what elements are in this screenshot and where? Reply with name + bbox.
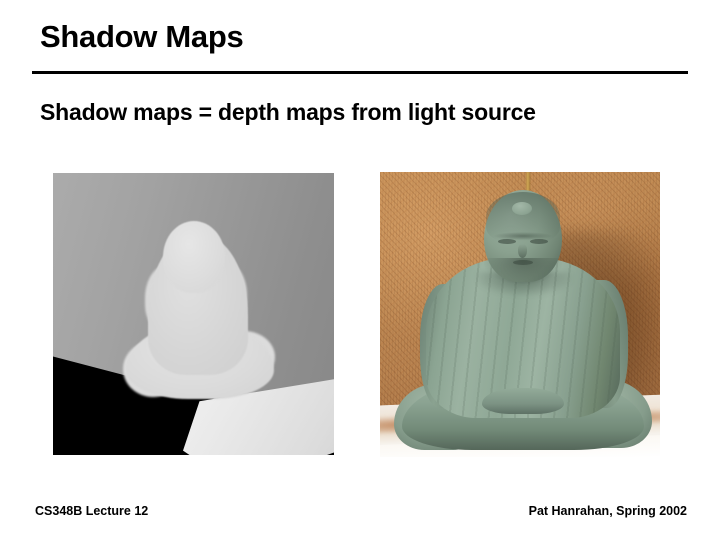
- page-title: Shadow Maps: [40, 18, 243, 56]
- photo-statue-ushnisha: [512, 202, 532, 215]
- slide-canvas: Shadow Maps Shadow maps = depth maps fro…: [0, 0, 720, 540]
- photo-statue-chin-shadow: [484, 258, 562, 284]
- photo-statue-eye-right: [530, 239, 548, 244]
- photo-statue-eye-left: [498, 239, 516, 244]
- photo-statue-hands: [482, 388, 564, 414]
- rendered-photo-figure: [380, 172, 660, 457]
- footer-author-label: Pat Hanrahan, Spring 2002: [529, 504, 687, 518]
- title-divider: [32, 71, 688, 74]
- footer-lecture-label: CS348B Lecture 12: [35, 504, 148, 518]
- depth-map-figure-head: [163, 221, 225, 293]
- slide-subtitle: Shadow maps = depth maps from light sour…: [40, 98, 536, 126]
- depth-map-figure: [53, 173, 334, 455]
- photo-statue-nose: [518, 244, 527, 258]
